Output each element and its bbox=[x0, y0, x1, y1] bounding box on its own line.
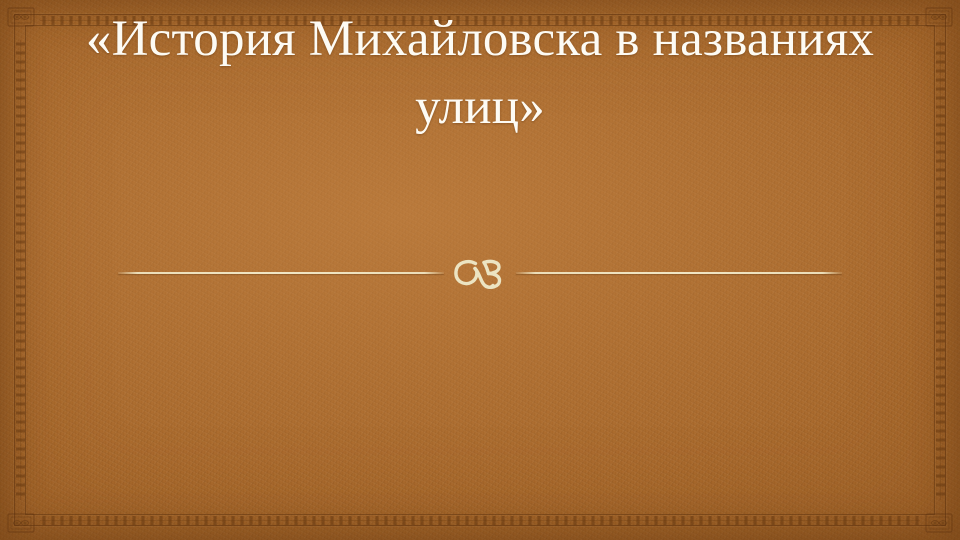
page-title: «История Михайловска в названиях улиц» bbox=[72, 6, 888, 142]
divider-rule-left bbox=[118, 272, 444, 274]
presentation-slide: «История Михайловска в названиях улиц» bbox=[0, 0, 960, 540]
corner-knot-ornament-bottom-left bbox=[6, 508, 40, 534]
florish-cb-ornament-icon bbox=[444, 251, 516, 297]
divider-rule-right bbox=[516, 272, 842, 274]
corner-knot-ornament-top-right bbox=[920, 6, 954, 32]
corner-knot-ornament-top-left bbox=[6, 6, 40, 32]
bead-chain-left-icon bbox=[16, 40, 25, 500]
title-divider bbox=[118, 250, 842, 296]
bead-chain-right-icon bbox=[936, 40, 945, 500]
corner-knot-ornament-bottom-right bbox=[920, 508, 954, 534]
title-placeholder[interactable]: «История Михайловска в названиях улиц» bbox=[72, 6, 888, 142]
bead-chain-bottom-icon bbox=[40, 516, 920, 525]
